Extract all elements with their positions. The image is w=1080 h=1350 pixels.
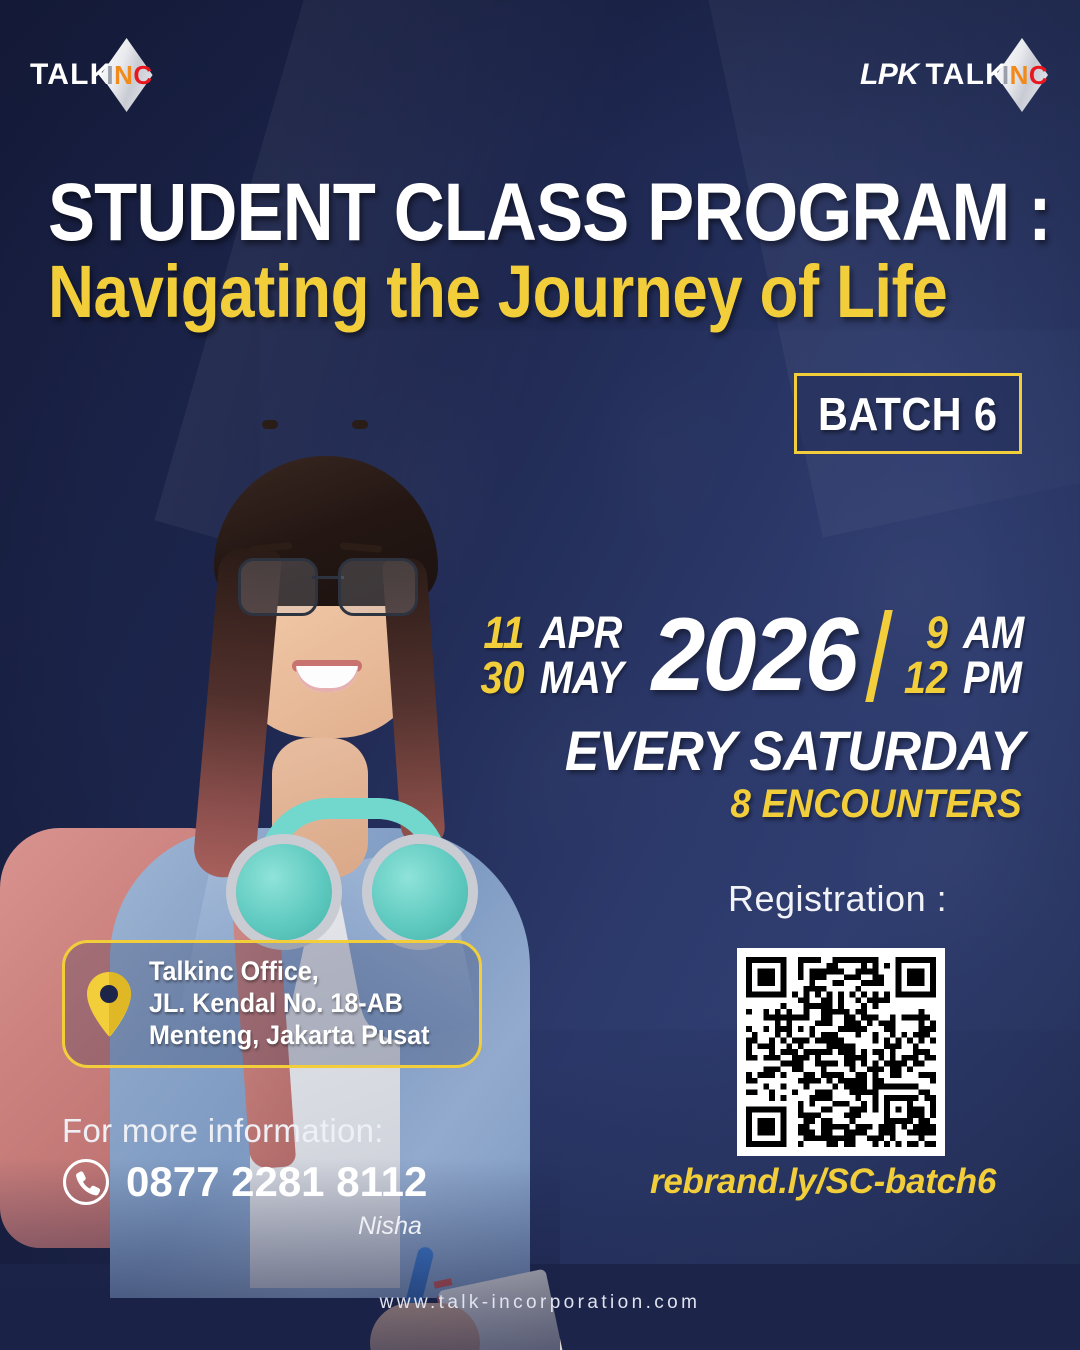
time-meridiem: PM [963,656,1022,700]
eyeglasses-icon [238,558,418,610]
date-day: 30 [474,656,525,700]
time-row: 9 AM [899,611,1028,655]
contact-heading: For more information: [62,1112,384,1150]
date-day: 11 [474,611,525,655]
location-box: Talkinc Office, JL. Kendal No. 18-AB Men… [62,940,482,1068]
time-value: 9 [902,611,948,655]
title-line-1: STUDENT CLASS PROGRAM : [48,175,899,250]
footer-website[interactable]: www.talk-incorporation.com [0,1292,1080,1314]
contact-phone-number[interactable]: 0877 2281 8112 [126,1158,427,1206]
headphone-earcup-right [372,844,468,940]
date-month: APR [540,611,622,655]
location-line-1: Talkinc Office, [149,956,429,988]
time-list: 9 AM 12 PM [899,611,1028,699]
location-line-3: Menteng, Jakarta Pusat [149,1020,429,1052]
registration-label: Registration : [728,878,947,920]
qr-code-canvas[interactable] [746,957,936,1147]
lens-left [238,558,318,616]
schedule-divider [865,610,893,702]
time-row: 12 PM [899,656,1028,700]
lens-right [338,558,418,616]
logo-letter-i: I [106,60,114,90]
logo-letter-c-right: C [1029,60,1048,90]
batch-badge: BATCH 6 [794,373,1022,454]
schedule-block: 11 APR 30 MAY 2026 9 AM 12 PM [470,596,1028,715]
qr-code[interactable] [737,948,945,1156]
date-month: MAY [540,656,624,700]
diamond-icon-right: INC [996,38,1048,112]
schedule-recurrence: EVERY SATURDAY [565,718,1024,783]
eye-left [262,420,278,429]
logo-talkinc: TALK INC [30,45,153,105]
diamond-label: INC [106,60,152,91]
location-text: Talkinc Office, JL. Kendal No. 18-AB Men… [149,956,429,1052]
schedule-year: 2026 [651,596,855,715]
phone-icon [62,1158,110,1206]
time-value: 12 [902,656,948,700]
registration-link[interactable]: rebrand.ly/SC-batch6 [650,1162,996,1202]
logo-letter-n-right: N [1010,60,1029,90]
date-row: 30 MAY [470,656,629,700]
schedule-sessions: 8 ENCOUNTERS [730,782,1022,827]
logo-lpk-prefix: LPK [860,58,919,92]
eye-right [352,420,368,429]
diamond-label-right: INC [1002,60,1048,91]
logo-letter-c: C [133,60,152,90]
contact-phone-row[interactable]: 0877 2281 8112 [62,1158,427,1206]
location-line-2: JL. Kendal No. 18-AB [149,988,429,1020]
poster-canvas: TALK INC LPK TALK INC [0,0,1080,1350]
time-meridiem: AM [963,611,1024,655]
map-pin-icon [83,971,135,1037]
page-title: STUDENT CLASS PROGRAM : Navigating the J… [48,175,1038,327]
date-row: 11 APR [470,611,629,655]
title-line-2: Navigating the Journey of Life [48,258,899,326]
diamond-icon: INC [101,38,153,112]
date-list: 11 APR 30 MAY [470,611,629,699]
headphone-earcup-left [236,844,332,940]
contact-person: Nisha [358,1212,422,1241]
logo-letter-i-right: I [1002,60,1010,90]
batch-label: BATCH 6 [818,387,997,441]
logo-lpk-talkinc: LPK TALK INC [860,45,1048,105]
logo-letter-n: N [114,60,133,90]
